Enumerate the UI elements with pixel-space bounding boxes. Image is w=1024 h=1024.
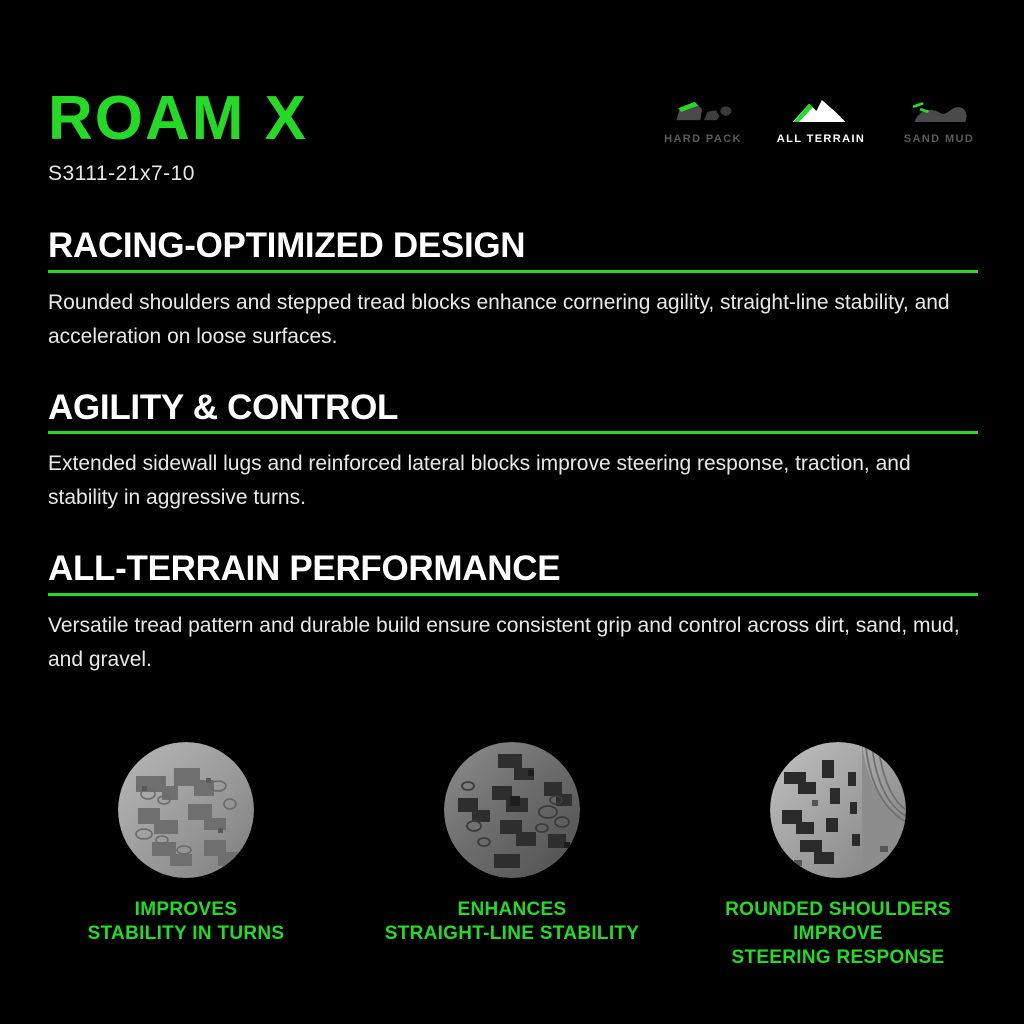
callout-caption: IMPROVESSTABILITY IN TURNS [88, 898, 285, 946]
terrain-badge-row: HARD PACK ALL TERRAIN SAND MUD [658, 92, 984, 145]
feature-section-all-terrain-performance: ALL-TERRAIN PERFORMANCE Versatile tread … [48, 551, 978, 677]
section-underline-rule [48, 431, 978, 434]
section-title: RACING-OPTIMIZED DESIGN [48, 228, 533, 264]
callout-caption: ROUNDED SHOULDERSIMPROVESTEERING RESPONS… [725, 898, 951, 970]
product-spec-sheet: ROAM X S3111-21x7-10 HARD PACK [0, 0, 1024, 1024]
section-title: ALL-TERRAIN PERFORMANCE [48, 551, 568, 587]
terrain-badge-label: ALL TERRAIN [777, 133, 866, 145]
feature-section-agility-control: AGILITY & CONTROL Extended sidewall lugs… [48, 390, 978, 516]
section-body: Rounded shoulders and stepped tread bloc… [48, 286, 978, 354]
callout-enhances-straight-line-stability: ENHANCESSTRAIGHT-LINE STABILITY [362, 742, 662, 970]
section-title: AGILITY & CONTROL [48, 390, 406, 426]
tread-center-blocks-photo [444, 742, 580, 878]
terrain-badge-label: SAND MUD [904, 133, 974, 145]
sand-mud-dune-icon [907, 92, 971, 126]
section-body: Extended sidewall lugs and reinforced la… [48, 447, 978, 515]
feature-section-racing-optimized-design: RACING-OPTIMIZED DESIGN Rounded shoulder… [48, 228, 978, 354]
terrain-badge-all-terrain[interactable]: ALL TERRAIN [776, 92, 866, 145]
callout-caption: ENHANCESSTRAIGHT-LINE STABILITY [385, 898, 640, 946]
tread-shoulder-blocks-photo [118, 742, 254, 878]
section-underline-rule [48, 270, 978, 273]
feature-sections: RACING-OPTIMIZED DESIGN Rounded shoulder… [48, 228, 978, 677]
section-body: Versatile tread pattern and durable buil… [48, 609, 978, 677]
section-heading: RACING-OPTIMIZED DESIGN [48, 228, 978, 273]
callout-rounded-shoulders-steering-response: ROUNDED SHOULDERSIMPROVESTEERING RESPONS… [688, 742, 988, 970]
terrain-badge-hard-pack[interactable]: HARD PACK [658, 92, 748, 145]
hard-pack-rocks-icon [671, 92, 735, 126]
feature-callouts: IMPROVESSTABILITY IN TURNS [0, 742, 1024, 970]
all-terrain-mountain-icon [789, 92, 853, 126]
section-heading: ALL-TERRAIN PERFORMANCE [48, 551, 978, 596]
model-code: S3111-21x7-10 [48, 162, 978, 186]
terrain-badge-sand-mud[interactable]: SAND MUD [894, 92, 984, 145]
tread-rounded-shoulder-photo [770, 742, 906, 878]
terrain-badge-label: HARD PACK [664, 133, 742, 145]
section-underline-rule [48, 593, 978, 596]
callout-improves-stability-in-turns: IMPROVESSTABILITY IN TURNS [36, 742, 336, 970]
section-heading: AGILITY & CONTROL [48, 390, 978, 435]
